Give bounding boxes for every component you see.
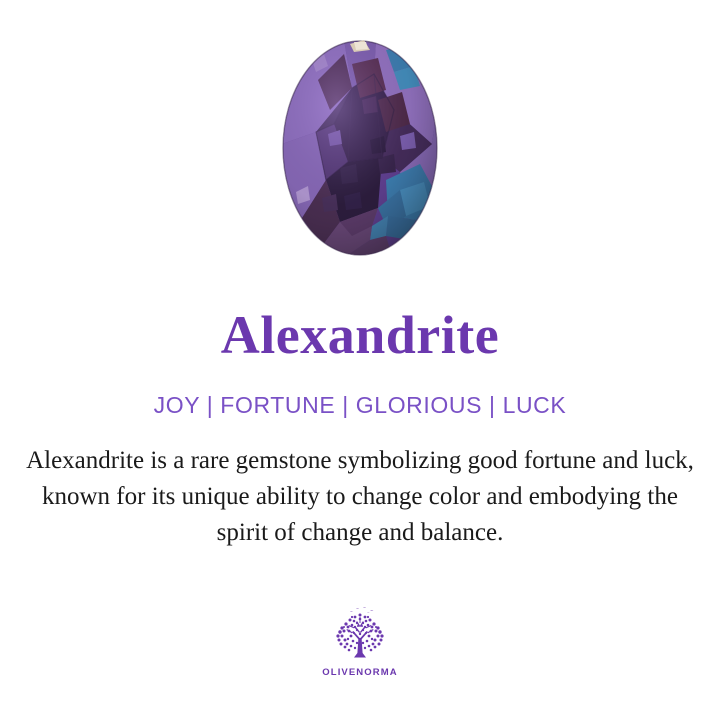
olivenorma-tree-logo [328,606,392,664]
alexandrite-oval-gemstone [282,40,438,256]
gemstone-description: Alexandrite is a rare gemstone symbolizi… [20,443,700,550]
brand-wordmark: OLIVENORMA [322,668,397,678]
gemstone-image [282,40,438,256]
birds-icon [350,608,373,614]
gemstone-keywords: JOY | FORTUNE | GLORIOUS | LUCK [154,394,567,417]
page-title: Alexandrite [221,308,499,362]
gemstone-info-card: Alexandrite JOY | FORTUNE | GLORIOUS | L… [0,0,720,720]
brand-logo: OLIVENORMA [322,606,397,678]
